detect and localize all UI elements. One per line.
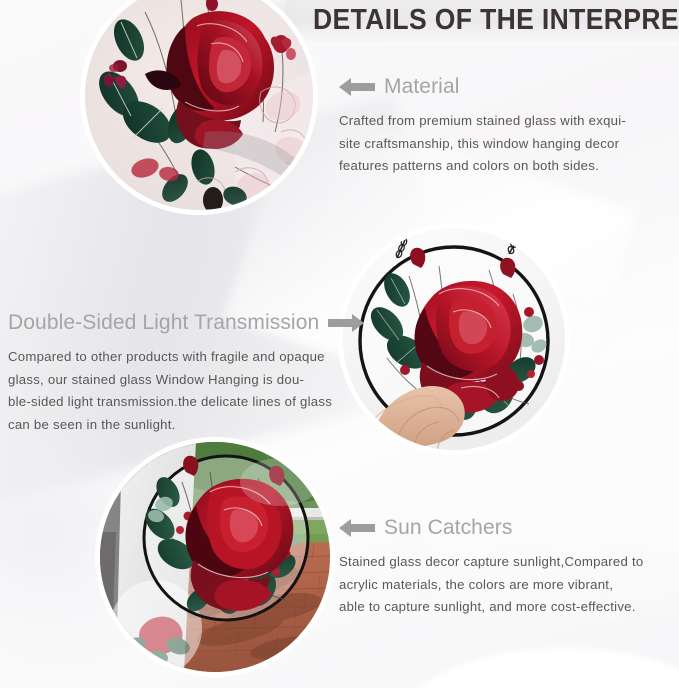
section-transmission-heading: Double-Sided Light Transmission bbox=[8, 311, 319, 335]
section-transmission: Double-Sided Light Transmission Compared… bbox=[8, 308, 340, 436]
photo-hand-held-art bbox=[343, 228, 565, 450]
photo-outdoor bbox=[100, 442, 330, 672]
photo-hand-held bbox=[343, 228, 565, 450]
infographic-page: DETAILS OF THE INTERPRETATION bbox=[0, 0, 679, 688]
section-suncatchers: Sun Catchers Stained glass decor capture… bbox=[339, 513, 677, 619]
section-suncatchers-body: Stained glass decor capture sunlight,Com… bbox=[339, 551, 677, 619]
section-suncatchers-heading-row: Sun Catchers bbox=[339, 513, 677, 543]
section-transmission-heading-row: Double-Sided Light Transmission bbox=[8, 308, 340, 338]
section-material-body: Crafted from premium stained glass with … bbox=[339, 110, 675, 178]
arrow-right-icon bbox=[328, 313, 364, 333]
arrow-left-icon bbox=[339, 77, 375, 97]
page-title: DETAILS OF THE INTERPRETATION bbox=[313, 4, 659, 37]
section-suncatchers-heading: Sun Catchers bbox=[384, 516, 512, 540]
section-transmission-body: Compared to other products with fragile … bbox=[8, 346, 340, 436]
section-material-heading: Material bbox=[384, 75, 460, 99]
section-material-heading-row: Material bbox=[339, 72, 675, 102]
photo-outdoor-art bbox=[100, 442, 330, 672]
section-material: Material Crafted from premium stained gl… bbox=[339, 72, 675, 178]
arrow-left-icon bbox=[339, 518, 375, 538]
